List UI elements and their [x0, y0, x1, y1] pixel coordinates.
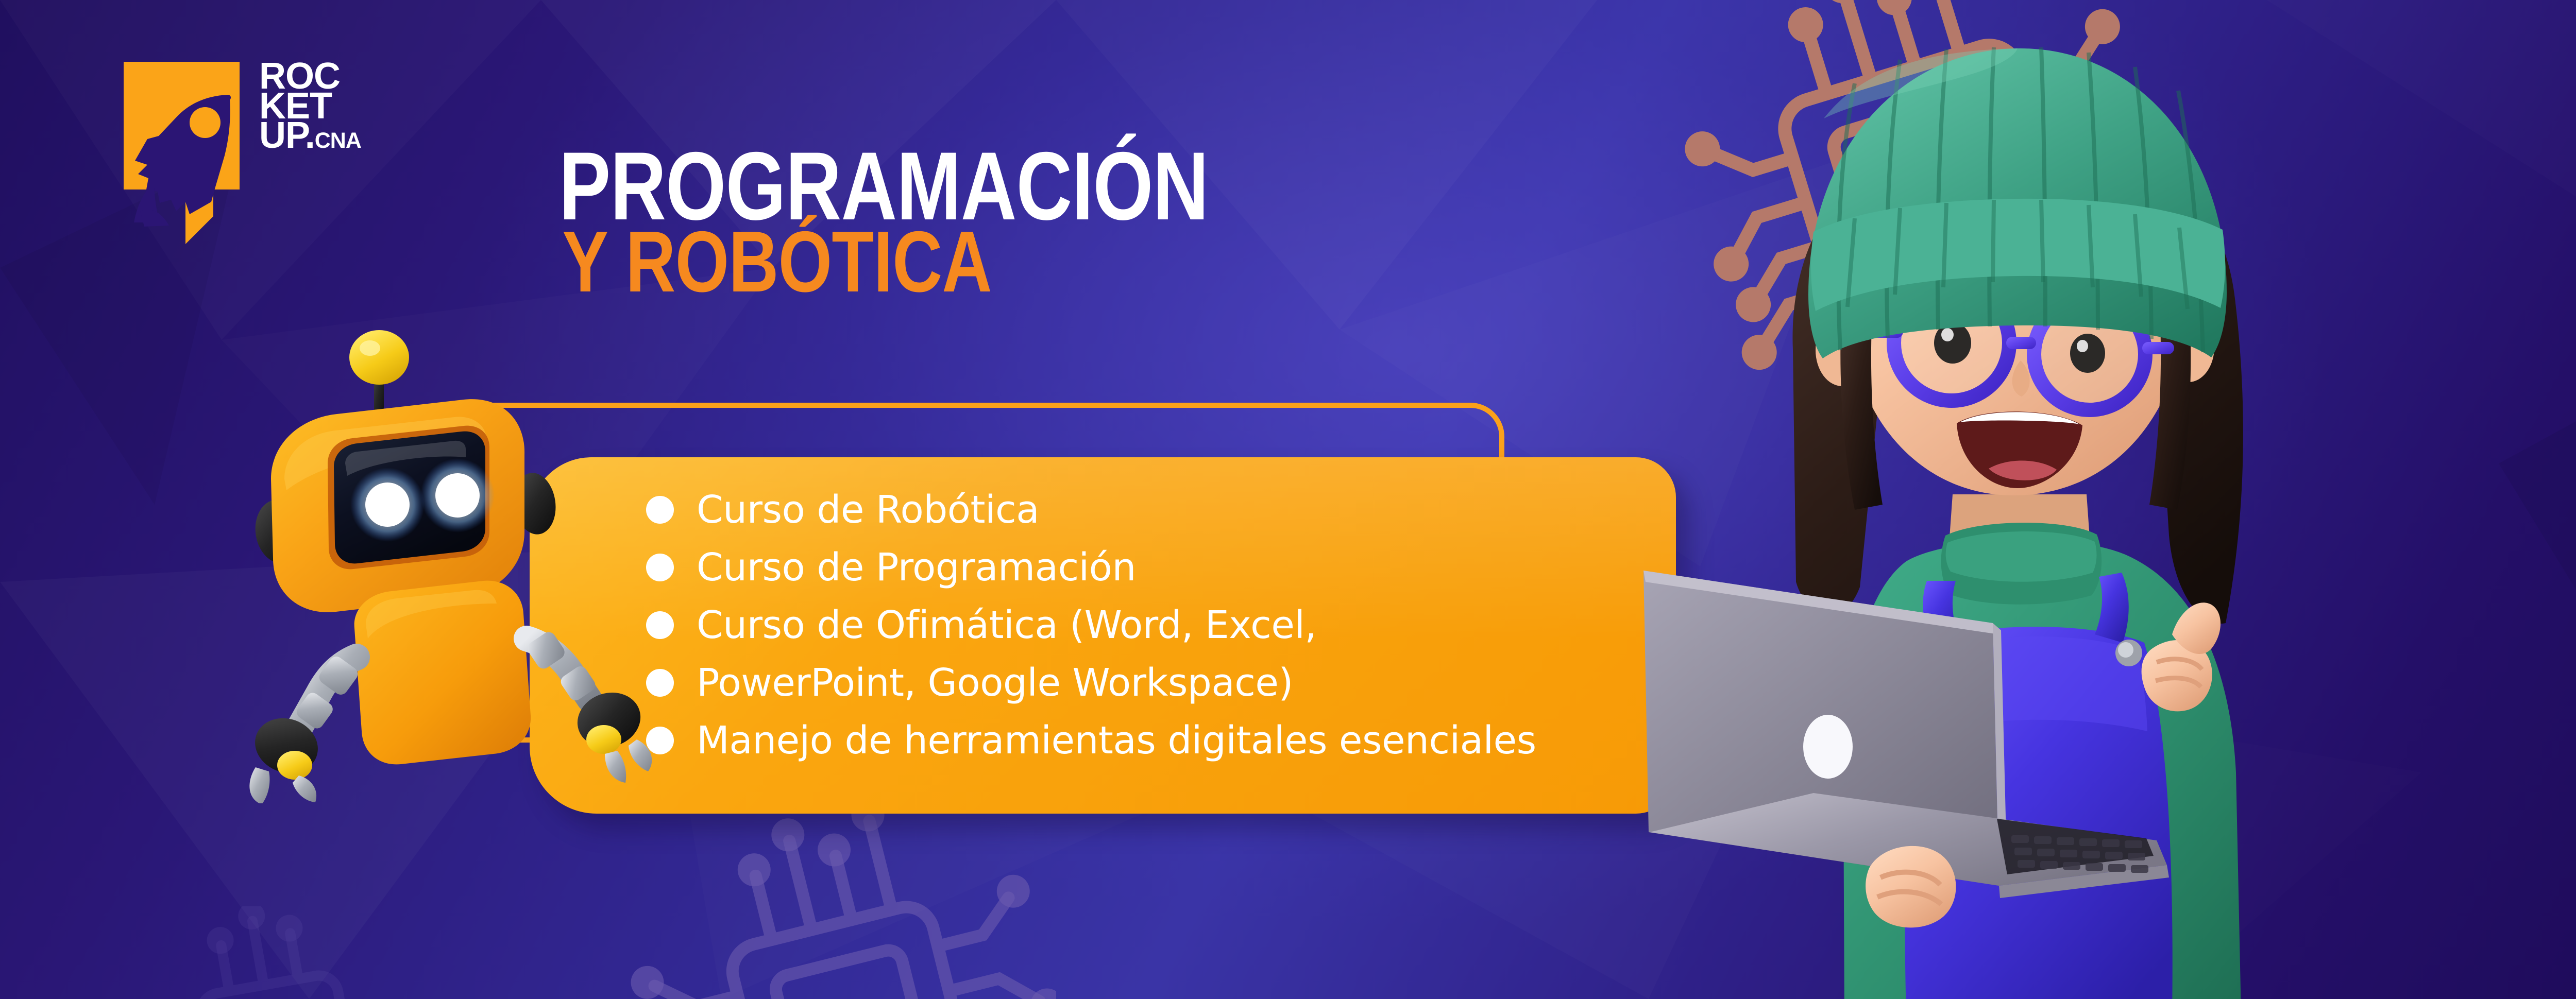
logo-wordmark: ROC KET UP. CNA [259, 62, 361, 151]
laptop-logo [1803, 715, 1853, 779]
page-title: PROGRAMACIÓN Y ROBÓTICA [559, 148, 1371, 296]
list-item: Curso de Programación [646, 539, 1625, 596]
list-item-label: PowerPoint, Google Workspace) [697, 664, 1293, 702]
girl-with-laptop [1638, 0, 2385, 999]
logo-line-3: UP. CNA [259, 121, 361, 151]
robot-claw-right-a [629, 739, 652, 771]
girl-beanie [1808, 47, 2227, 358]
list-item-label: Curso de Robótica [697, 491, 1039, 529]
circuit-chip-decor-extra-icon [103, 906, 392, 999]
logo-line-3-main: UP. [259, 121, 315, 151]
robot-torso [354, 581, 531, 765]
list-item: Manejo de herramientas digitales esencia… [646, 712, 1625, 769]
robot-head [271, 399, 524, 612]
rocket-badge [124, 62, 240, 216]
list-item: Curso de Robótica [646, 481, 1625, 539]
rocket-icon [129, 73, 234, 228]
robot-eye-right [435, 473, 480, 518]
course-list-panel: Curso de Robótica Curso de Programación … [530, 457, 1676, 814]
robot-mascot [222, 309, 675, 803]
glasses-bridge [2006, 337, 2036, 349]
robot-claw-left-b [293, 776, 316, 802]
list-item: Curso de Ofimática (Word, Excel, [646, 596, 1625, 654]
robot-antenna-ball [349, 330, 409, 385]
title-line-secondary: Y ROBÓTICA [559, 228, 1208, 296]
list-item-label: Curso de Ofimática (Word, Excel, [697, 606, 1316, 644]
title-line-primary: PROGRAMACIÓN [559, 148, 1208, 224]
banner-root: ROC KET UP. CNA PROGRAMACIÓN Y ROBÓTICA … [0, 0, 2576, 999]
girl-hand-left [1866, 846, 1956, 927]
list-item-label: Manejo de herramientas digitales esencia… [697, 721, 1536, 760]
course-bullet-list: Curso de Robótica Curso de Programación … [646, 481, 1625, 769]
brand-logo[interactable]: ROC KET UP. CNA [124, 62, 361, 216]
robot-arm-left [247, 654, 361, 803]
logo-suffix-cna: CNA [315, 132, 361, 149]
robot-arm-right [525, 629, 652, 783]
robot-claw-right-b [605, 751, 626, 783]
glasses-temple-right [2142, 342, 2174, 354]
circuit-chip-bottom-left-icon [592, 808, 1056, 999]
robot-claw-left-a [249, 767, 269, 803]
list-item: PowerPoint, Google Workspace) [646, 654, 1625, 712]
list-item-label: Curso de Programación [697, 548, 1136, 587]
robot-eye-left [365, 483, 410, 527]
